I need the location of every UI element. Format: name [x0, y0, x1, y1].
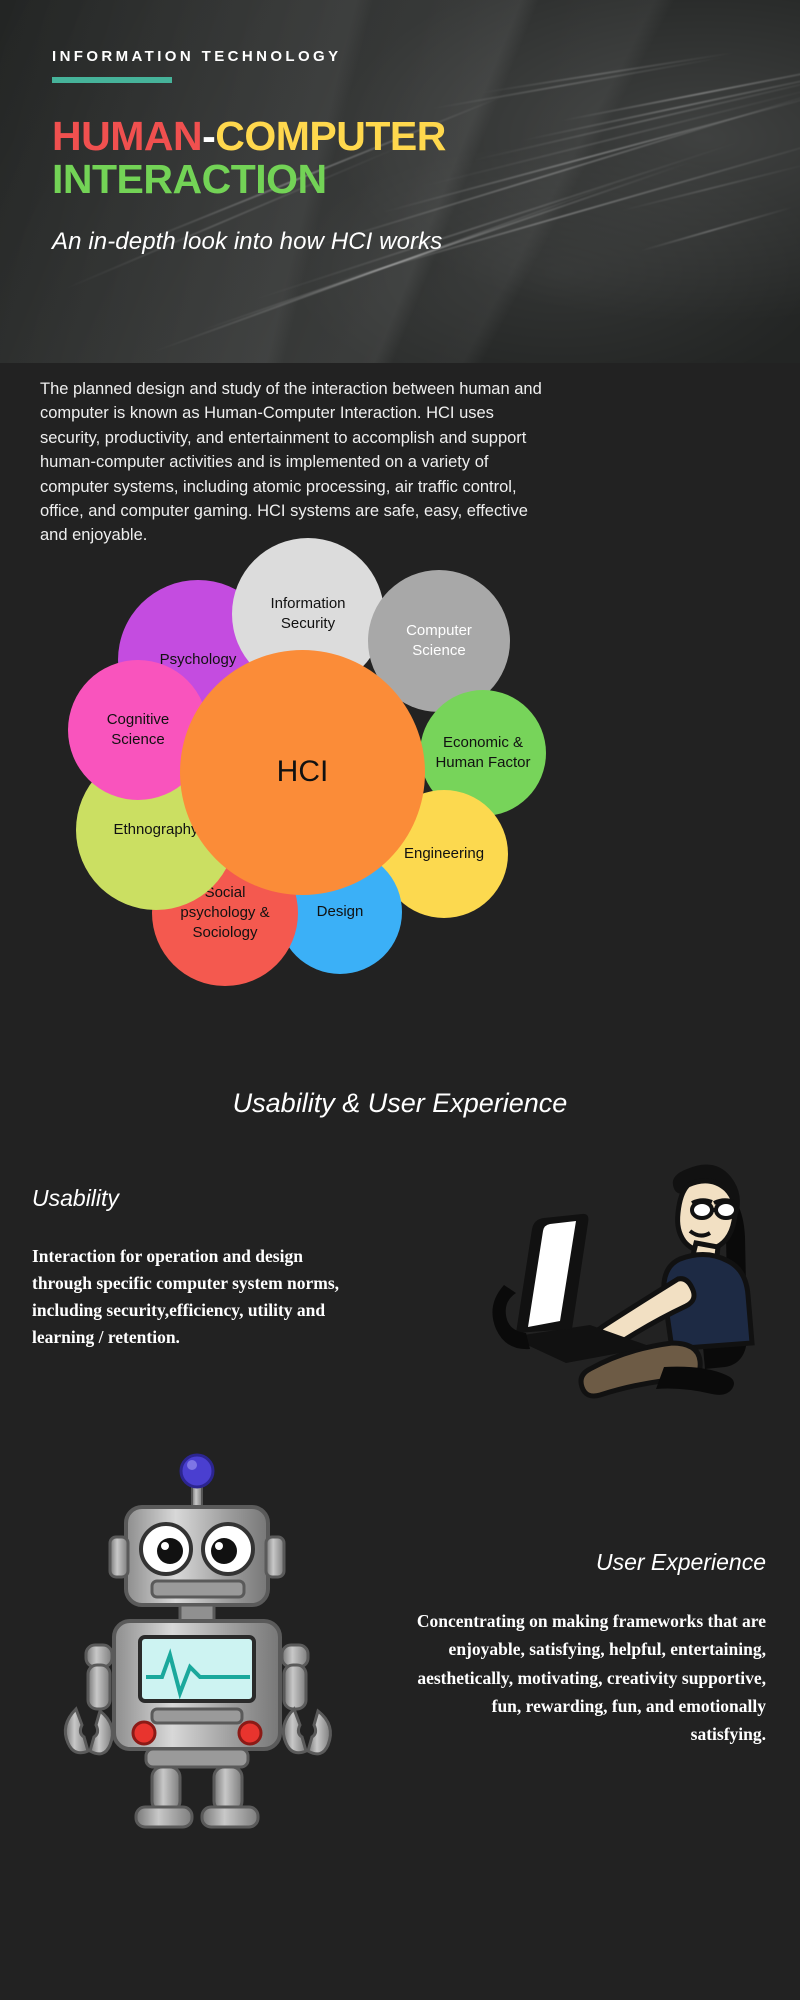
- usability-title: Usability: [32, 1185, 119, 1212]
- bubble-label: InformationSecurity: [270, 594, 345, 634]
- user-experience-section: User Experience Concentrating on making …: [0, 1461, 800, 1831]
- bubble-hci-center[interactable]: HCI: [180, 650, 425, 895]
- bubble-label: Design: [317, 902, 364, 922]
- user-experience-body: Concentrating on making frameworks that …: [416, 1607, 766, 1749]
- usability-section: Usability Interaction for operation and …: [0, 1171, 800, 1461]
- title-dash: -: [202, 113, 215, 159]
- title-word-interaction: INTERACTION: [52, 156, 327, 202]
- bubble-label: Psychology: [160, 650, 237, 670]
- bubble-label: ComputerScience: [406, 621, 472, 661]
- hci-bubble-diagram: PsychologyInformationSecurityComputerSci…: [0, 550, 800, 1080]
- page-title: HUMAN-COMPUTER INTERACTION: [52, 115, 800, 202]
- title-word-human: HUMAN: [52, 113, 202, 159]
- hero-banner: INFORMATION TECHNOLOGY HUMAN-COMPUTER IN…: [0, 0, 800, 363]
- bubble-label: Ethnography: [113, 820, 198, 840]
- bubble-label: HCI: [277, 752, 329, 792]
- section-heading: Usability & User Experience: [0, 1088, 800, 1119]
- bubble-label: CognitiveScience: [107, 710, 170, 750]
- usability-body: Interaction for operation and design thr…: [32, 1243, 362, 1352]
- title-word-computer: COMPUTER: [215, 113, 446, 159]
- robot-illustration: [48, 1445, 348, 1835]
- page-subtitle: An in-depth look into how HCI works: [52, 228, 800, 256]
- intro-paragraph: The planned design and study of the inte…: [0, 363, 600, 548]
- person-at-laptop-illustration: [474, 1147, 774, 1407]
- accent-rule: [52, 77, 172, 83]
- bubble-label: Economic &Human Factor: [435, 733, 530, 773]
- user-experience-title: User Experience: [596, 1549, 766, 1576]
- bubble-label: Engineering: [404, 844, 484, 864]
- kicker-label: INFORMATION TECHNOLOGY: [52, 48, 800, 65]
